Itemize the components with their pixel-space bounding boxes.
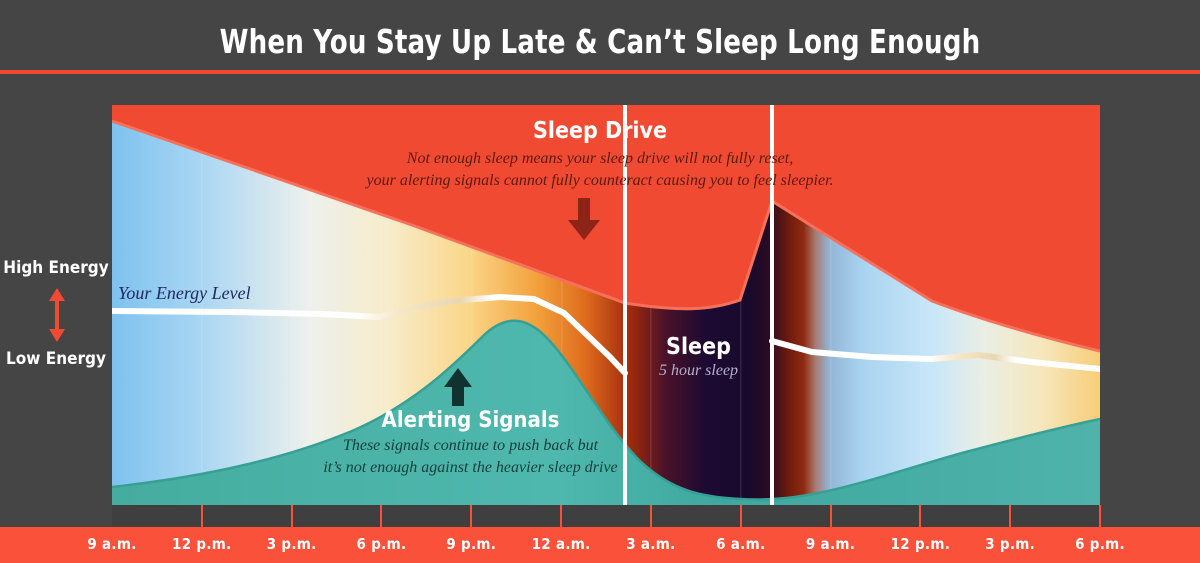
axis-tick: [291, 505, 293, 527]
axis-tick: [1009, 505, 1011, 527]
arrow-up-icon: [443, 368, 473, 406]
double-arrow-vertical-icon: [48, 288, 66, 342]
axis-tick-label: 3 p.m.: [267, 535, 317, 553]
axis-tick-label: 6 p.m.: [1075, 535, 1125, 553]
axis-tick-label: 9 a.m.: [87, 535, 136, 553]
alerting-signals-annotation: Alerting Signals These signals continue …: [258, 408, 683, 478]
alerting-signals-line2: it’s not enough against the heavier slee…: [258, 457, 683, 479]
arrow-down-icon: [566, 198, 602, 240]
alerting-signals-line1: These signals continue to push back but: [258, 435, 683, 457]
sleep-annotation: Sleep 5 hour sleep: [625, 334, 772, 380]
axis-tick: [1099, 505, 1101, 527]
axis-tick: [919, 505, 921, 527]
sleep-subtitle: 5 hour sleep: [625, 362, 772, 380]
axis-tick-label: 6 a.m.: [716, 535, 765, 553]
axis-tick-label: 12 a.m.: [532, 535, 591, 553]
sleep-drive-annotation: Sleep Drive Not enough sleep means your …: [262, 118, 938, 191]
infographic-root: When You Stay Up Late & Can’t Sleep Long…: [0, 0, 1200, 563]
axis-ticks: [112, 505, 1100, 527]
axis-tick: [201, 505, 203, 527]
page-title: When You Stay Up Late & Can’t Sleep Long…: [72, 22, 1128, 61]
axis-tick-label: 3 a.m.: [626, 535, 675, 553]
sleep-title: Sleep: [625, 334, 772, 360]
axis-tick: [650, 505, 652, 527]
alerting-signals-title: Alerting Signals: [258, 408, 683, 433]
axis-tick-label: 3 p.m.: [985, 535, 1035, 553]
axis-tick-label: 9 a.m.: [806, 535, 855, 553]
axis-tick-labels: 9 a.m.12 p.m.3 p.m.6 p.m.9 p.m.12 a.m.3 …: [112, 527, 1100, 563]
sleep-drive-line1: Not enough sleep means your sleep drive …: [262, 148, 938, 170]
axis-tick: [380, 505, 382, 527]
axis-tick-label: 12 p.m.: [172, 535, 232, 553]
low-energy-label: Low Energy: [0, 349, 112, 369]
axis-tick-label: 6 p.m.: [357, 535, 407, 553]
axis-tick: [830, 505, 832, 527]
axis-tick-label: 12 p.m.: [891, 535, 951, 553]
axis-tick: [560, 505, 562, 527]
sleep-drive-line2: your alerting signals cannot fully count…: [262, 170, 938, 192]
axis-tick: [470, 505, 472, 527]
title-divider: [0, 70, 1200, 74]
sleep-drive-title: Sleep Drive: [262, 118, 938, 144]
energy-level-label: Your Energy Level: [118, 283, 251, 304]
axis-tick-label: 9 p.m.: [446, 535, 496, 553]
axis-tick: [740, 505, 742, 527]
high-energy-label: High Energy: [0, 258, 112, 278]
